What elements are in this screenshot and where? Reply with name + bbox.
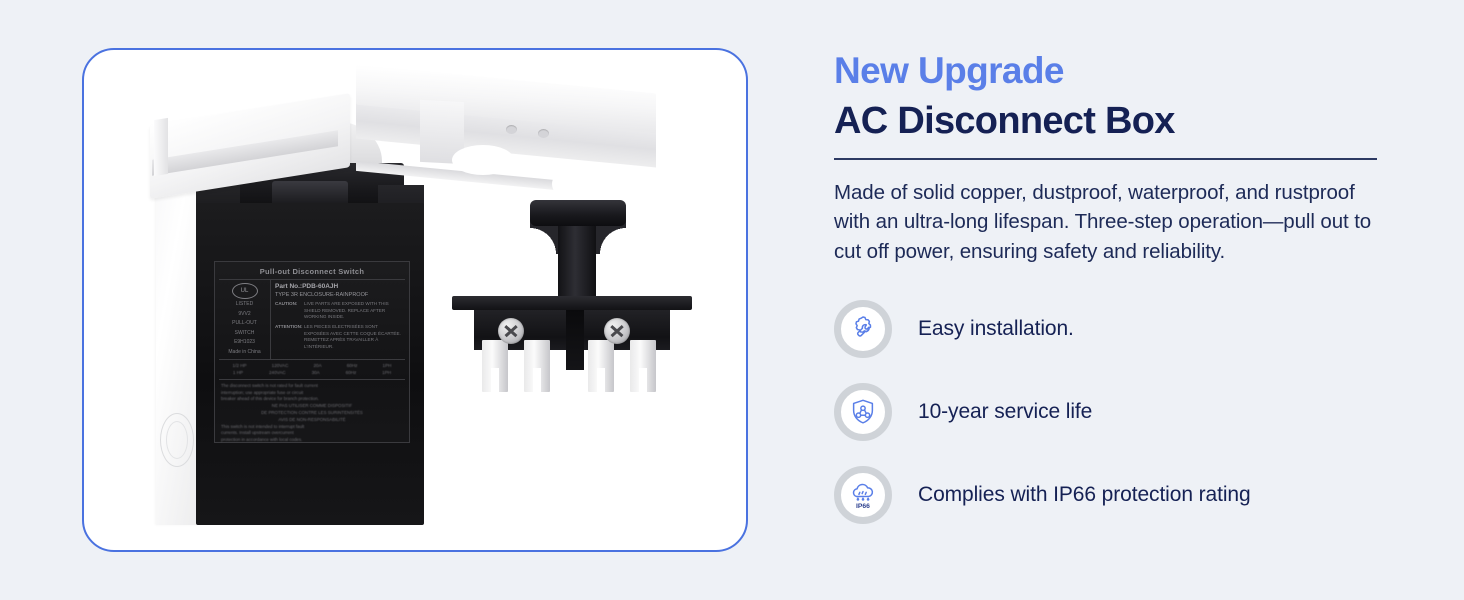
handle-grip (530, 200, 626, 226)
blade-contact (482, 340, 508, 392)
page-title: AC Disconnect Box (834, 100, 1404, 143)
attention-text: LES PIECES ELECTRISÉES SONT EXPOSÉES AVE… (304, 324, 401, 351)
copy-pane: New Upgrade AC Disconnect Box Made of so… (820, 0, 1464, 600)
feature-label: Complies with IP66 protection rating (918, 483, 1251, 507)
cert-line-6: Made in China (228, 349, 260, 357)
feature-label: 10-year service life (918, 400, 1092, 424)
bracket-scallop (552, 163, 622, 205)
label-part-number: Part No.:PDB-60AJH (275, 283, 401, 290)
ip66-cloud-icon: IP66 (834, 466, 892, 524)
product-description: Made of solid copper, dustproof, waterpr… (834, 178, 1386, 266)
eyebrow-heading: New Upgrade (834, 52, 1404, 91)
shield-network-icon (834, 383, 892, 441)
product-image-card: Pull-out Disconnect Switch UL LISTED 9VV… (82, 48, 748, 552)
pull-out-handle-block (452, 200, 692, 390)
feature-list: Easy installation. 10-year service life (834, 300, 1404, 524)
attention-key: ATTENTION: (275, 324, 301, 351)
enclosure-lid (150, 85, 466, 205)
label-enclosure-type: TYPE 3R ENCLOSURE-RAINPROOF (275, 292, 401, 298)
feature-item-service-life: 10-year service life (834, 383, 1404, 441)
cert-line-5: E9H1023 (234, 339, 255, 347)
terminal-screw (498, 318, 524, 344)
handle-base-plate (452, 296, 692, 310)
conduit-knockout (160, 413, 194, 467)
feature-item-ip66: IP66 Complies with IP66 protection ratin… (834, 466, 1404, 524)
ratings-row-2: 1 HP 240VAC 30A 60Hz 1PH (220, 369, 404, 376)
bracket-mount-hole (538, 129, 549, 138)
gear-wrench-icon (834, 300, 892, 358)
caution-key: CAUTION: (275, 301, 301, 321)
product-feature-banner: Pull-out Disconnect Switch UL LISTED 9VV… (0, 0, 1464, 600)
cert-line-3: PULL-OUT (232, 320, 257, 328)
ip66-caption: IP66 (856, 503, 870, 510)
feature-label: Easy installation. (918, 317, 1074, 341)
product-rating-label: Pull-out Disconnect Switch UL LISTED 9VV… (214, 261, 410, 443)
lid-hinge (154, 118, 168, 176)
ul-listed-mark: UL (232, 283, 258, 299)
terminal-screw (604, 318, 630, 344)
feature-item-easy-installation: Easy installation. (834, 300, 1404, 358)
title-divider (834, 158, 1377, 160)
handle-stem (558, 220, 596, 302)
bracket-mount-hole (506, 125, 517, 134)
ac-disconnect-enclosure: Pull-out Disconnect Switch UL LISTED 9VV… (156, 85, 466, 525)
blade-contact (630, 340, 656, 392)
blade-contact (524, 340, 550, 392)
ratings-row-1: 1/2 HP 120VAC 20A 60Hz 1PH (220, 362, 404, 369)
cert-line-1: LISTED (236, 301, 254, 309)
label-title: Pull-out Disconnect Switch (219, 265, 405, 280)
handle-center-slot (566, 308, 584, 370)
cert-line-4: SWITCH (235, 330, 255, 338)
label-ratings-table: 1/2 HP 120VAC 20A 60Hz 1PH 1 HP 240VAC 3… (219, 360, 405, 380)
product-image-pane: Pull-out Disconnect Switch UL LISTED 9VV… (0, 0, 820, 600)
caution-text: LIVE PARTS ARE EXPOSED WITH THIS SHIELD … (304, 301, 401, 321)
blade-contact (588, 340, 614, 392)
product-photo: Pull-out Disconnect Switch UL LISTED 9VV… (84, 50, 746, 550)
certification-block: UL LISTED 9VV2 PULL-OUT SWITCH E9H1023 M… (219, 280, 271, 359)
cert-line-2: 9VV2 (238, 311, 250, 319)
label-fine-print: The disconnect switch is not rated for f… (219, 380, 405, 447)
